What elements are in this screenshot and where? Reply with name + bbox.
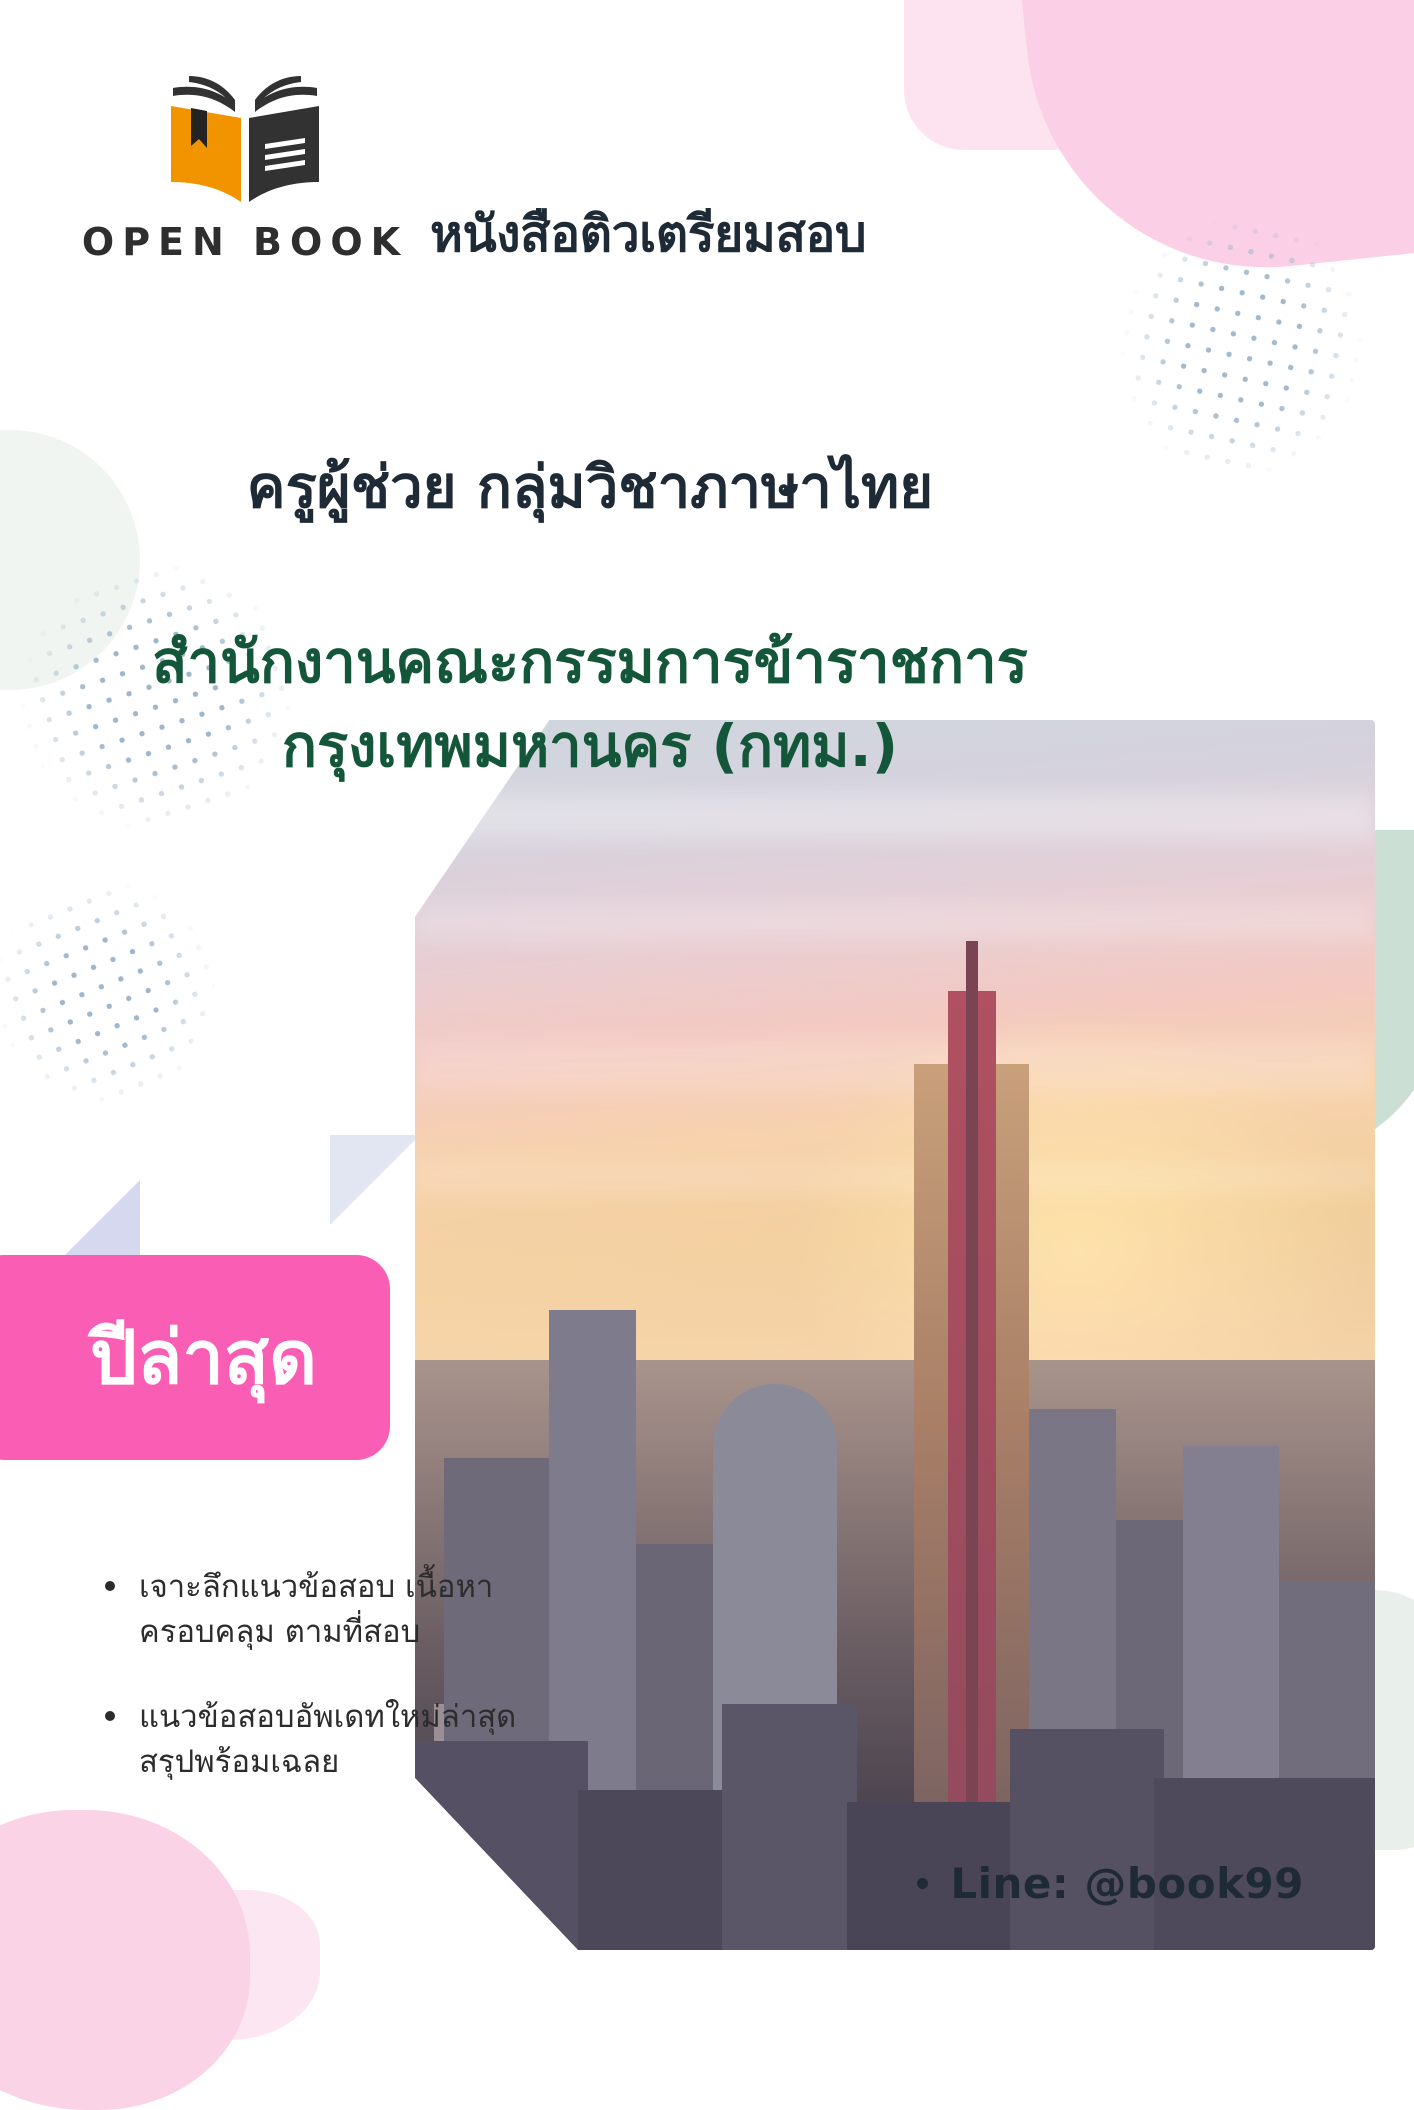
photo-lowrise [722, 1704, 856, 1950]
organization-title: สำนักงานคณะกรรมการข้าราชการ กรุงเทพมหานค… [0, 620, 1180, 788]
brand-name: OPEN BOOK [70, 220, 420, 264]
photo-lowrise [578, 1790, 732, 1950]
kicker-heading: หนังสือติวเตรียมสอบ [430, 195, 1130, 274]
contact-line: Line: @book99 [917, 1859, 1304, 1908]
contact-label: Line: @book99 [950, 1859, 1304, 1908]
bullet-dot-icon [917, 1878, 928, 1889]
decor-blob-top-right-light [904, 0, 1234, 150]
latest-year-badge: ปีล่าสุด [0, 1255, 390, 1460]
organization-line-2: กรุงเทพมหานคร (กทม.) [0, 704, 1180, 788]
list-item-label: เจาะลึกแนวข้อสอบ เนื้อหาครอบคลุม ตามที่ส… [139, 1565, 535, 1655]
list-item-label: แนวข้อสอบอัพเดทใหม่ล่าสุด สรุปพร้อมเฉลย [139, 1695, 535, 1785]
photo-cloud [415, 794, 1375, 840]
photo-tower-antenna [966, 941, 978, 1950]
bullet-dot-icon [105, 1581, 115, 1591]
list-item: เจาะลึกแนวข้อสอบ เนื้อหาครอบคลุม ตามที่ส… [105, 1565, 535, 1655]
organization-line-1: สำนักงานคณะกรรมการข้าราชการ [0, 620, 1180, 704]
latest-year-badge-label: ปีล่าสุด [90, 1321, 317, 1395]
page-title: ครูผู้ช่วย กลุ่มวิชาภาษาไทย [0, 440, 1180, 533]
decor-triangle-left-lilac-2 [330, 1135, 420, 1225]
photo-cloud [415, 1040, 1375, 1092]
decor-blob-bottom-left-light [120, 1890, 320, 2040]
bullet-dot-icon [105, 1711, 115, 1721]
bangkok-skyline-photo [415, 720, 1375, 1950]
list-item: แนวข้อสอบอัพเดทใหม่ล่าสุด สรุปพร้อมเฉลย [105, 1695, 535, 1785]
photo-cloud [415, 905, 1375, 939]
open-book-icon [155, 70, 335, 210]
feature-list: เจาะลึกแนวข้อสอบ เนื้อหาครอบคลุม ตามที่ส… [105, 1565, 535, 1825]
photo-cloud [415, 1163, 1375, 1193]
decor-dot-grid-lower-left [0, 815, 275, 1206]
photo-lowrise [1010, 1729, 1164, 1950]
decor-blob-bottom-left-pink [0, 1810, 250, 2110]
brand-logo: OPEN BOOK [70, 70, 420, 264]
